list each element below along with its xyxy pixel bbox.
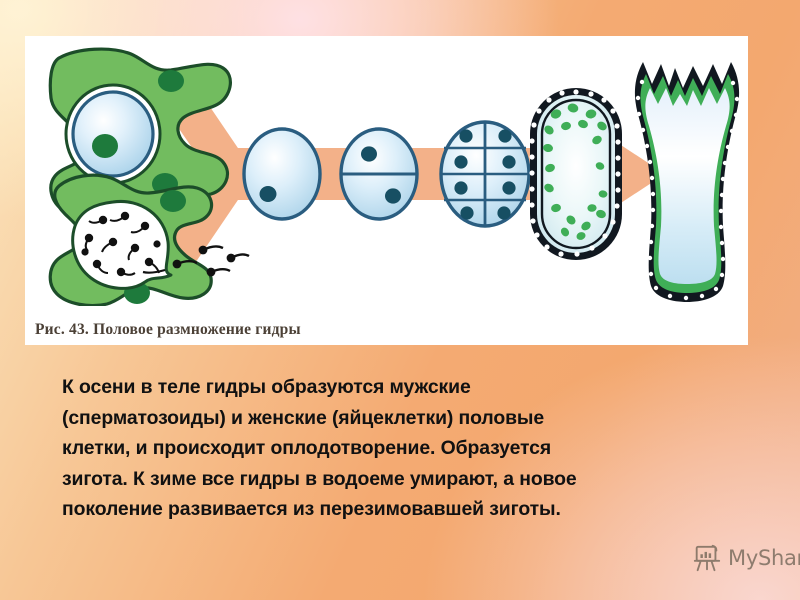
- tissue-nucleus: [160, 190, 186, 212]
- stage-zygote: [244, 129, 320, 219]
- protective-shell-inner: [537, 95, 615, 253]
- egg-cell: [73, 92, 153, 176]
- zygote-cell: [244, 129, 320, 219]
- slide-canvas: Рис. 43. Половое размножение гидры К осе…: [0, 0, 800, 600]
- egg-cell-nucleus: [92, 134, 118, 158]
- blastomere-nucleus: [361, 146, 377, 161]
- slide-body-text: К осени в теле гидры образуются мужские …: [62, 372, 742, 525]
- tissue-nucleus: [158, 70, 184, 92]
- figure-panel: Рис. 43. Половое размножение гидры: [25, 36, 748, 345]
- zygote-nucleus: [260, 186, 277, 202]
- hydra-sexual-reproduction-diagram: [25, 36, 748, 306]
- body-line-5: поколение развивается из перезимовавшей …: [62, 494, 742, 525]
- watermark-label: MyShared: [728, 548, 800, 569]
- stage-two-cell: [341, 129, 417, 219]
- presentation-chart-easel-icon: [692, 543, 722, 573]
- stage-eight-cell: [441, 122, 529, 226]
- stage-young-hydra: [635, 62, 739, 302]
- blastomere-nucleus: [385, 188, 401, 203]
- watermark: MyShared: [692, 543, 800, 573]
- body-line-1: К осени в теле гидры образуются мужские: [62, 372, 742, 403]
- body-line-2: (сперматозоиды) и женские (яйцеклетки) п…: [62, 403, 742, 434]
- body-line-4: зигота. К зиме все гидры в водоеме умира…: [62, 464, 742, 495]
- stage-blastula: [529, 88, 622, 260]
- figure-caption: Рис. 43. Половое размножение гидры: [35, 321, 735, 339]
- body-line-3: клетки, и происходит оплодотворение. Обр…: [62, 433, 742, 464]
